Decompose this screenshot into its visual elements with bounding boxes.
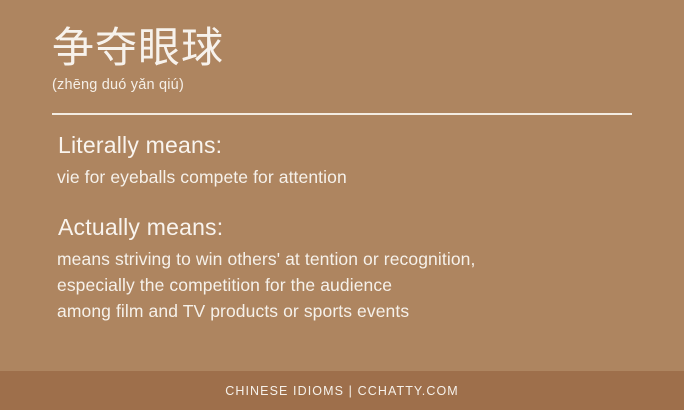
section-actual: Actually means: means striving to win ot… — [52, 212, 652, 324]
section-heading-actual: Actually means: — [52, 212, 652, 243]
idiom-card: 争夺眼球 (zhēng duó yǎn qiú) Literally means… — [0, 0, 684, 410]
section-heading-literal: Literally means: — [52, 130, 652, 161]
footer-bar: CHINESE IDIOMS | CCHATTY.COM — [0, 371, 684, 410]
idiom-pinyin: (zhēng duó yǎn qiú) — [52, 76, 634, 95]
definition-line: especially the competition for the audie… — [57, 272, 652, 298]
section-lines-literal: vie for eyeballs compete for attention — [52, 164, 652, 190]
definitions-area: Literally means: vie for eyeballs compet… — [52, 130, 652, 324]
card-header: 争夺眼球 (zhēng duó yǎn qiú) — [52, 24, 634, 95]
idiom-title: 争夺眼球 — [52, 24, 634, 72]
header-divider — [52, 113, 632, 115]
footer-branding-text: CHINESE IDIOMS | CCHATTY.COM — [225, 383, 459, 399]
definition-line: vie for eyeballs compete for attention — [57, 164, 652, 190]
section-lines-actual: means striving to win others' at tention… — [52, 246, 652, 324]
section-literal: Literally means: vie for eyeballs compet… — [52, 130, 652, 190]
definition-line: means striving to win others' at tention… — [57, 246, 652, 272]
definition-line: among film and TV products or sports eve… — [57, 298, 652, 324]
